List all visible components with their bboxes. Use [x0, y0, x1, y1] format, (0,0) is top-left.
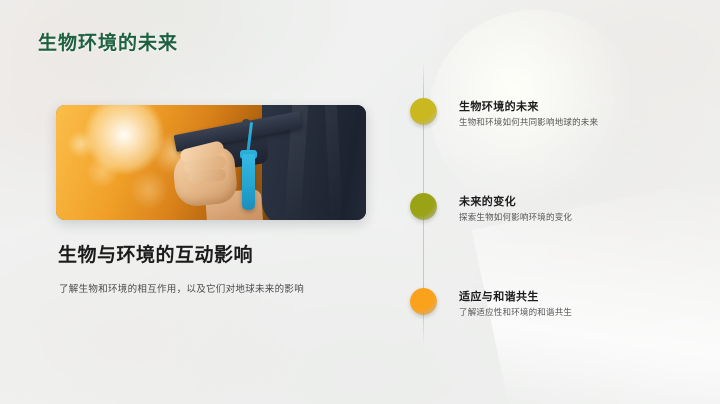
list-item-description: 生物和环境如何共同影响地球的未来	[459, 116, 598, 128]
lead-subtitle: 了解生物和环境的相互作用，以及它们对地球未来的影响	[59, 281, 304, 295]
list-item-description: 了解适应性和环境的和谐共生	[459, 306, 572, 318]
bullet-dot-icon	[410, 193, 437, 220]
list-item-description: 探索生物如何影响环境的变化	[459, 211, 572, 223]
list-item-title: 未来的变化	[459, 193, 516, 209]
graduation-photo	[56, 105, 366, 220]
lead-heading: 生物与环境的互动影响	[58, 240, 253, 267]
list-item[interactable]: 适应与和谐共生 了解适应性和环境的和谐共生	[400, 280, 700, 342]
tassel-icon	[242, 154, 255, 210]
presentation-slide: 生物环境的未来 生物与环境的互动影响 了解生物和环境的相互作用，以及它们对地球未…	[0, 0, 720, 404]
list-item[interactable]: 未来的变化 探索生物如何影响环境的变化	[400, 185, 700, 247]
list-item-title: 适应与和谐共生	[459, 288, 539, 304]
list-item[interactable]: 生物环境的未来 生物和环境如何共同影响地球的未来	[400, 90, 700, 152]
slide-title: 生物环境的未来	[38, 28, 178, 55]
bullet-dot-icon	[410, 98, 437, 125]
bullet-list: 生物环境的未来 生物和环境如何共同影响地球的未来 未来的变化 探索生物如何影响环…	[400, 60, 700, 360]
list-item-title: 生物环境的未来	[459, 98, 539, 114]
bullet-dot-icon	[410, 288, 437, 315]
